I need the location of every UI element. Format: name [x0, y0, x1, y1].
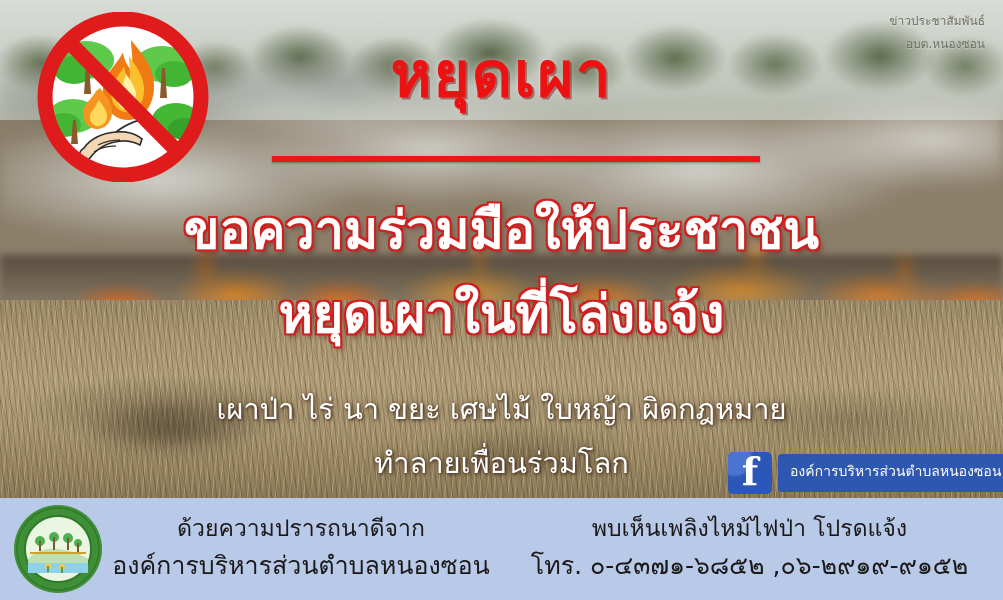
- footer-left-block: ด้วยความปรารถนาดีจาก องค์การบริหารส่วนตำ…: [106, 512, 496, 586]
- facebook-page-name[interactable]: องค์การบริหารส่วนตำบลหนองซอน: [778, 454, 1003, 492]
- public-notice-poster: ข่าวประชาสัมพันธ์ อบต.หนองซอน หยุดเผา ขอ…: [0, 0, 1003, 600]
- red-divider-rule: [272, 156, 760, 162]
- facebook-glyph: f: [728, 452, 772, 494]
- municipal-seal-icon: [10, 503, 106, 595]
- footer-bar: ด้วยความปรารถนาดีจาก องค์การบริหารส่วนตำ…: [0, 498, 1003, 600]
- footer-right-block: พบเห็นเพลิงไหม้ไฟป่า โปรดแจ้ง โทร. ๐-๔๓๗…: [496, 512, 1003, 586]
- footer-left-line-1: ด้วยความปรารถนาดีจาก: [106, 512, 496, 548]
- message-line-2: หยุดเผาในที่โล่งแจ้ง: [0, 272, 1003, 355]
- footer-left-line-2: องค์การบริหารส่วนตำบลหนองซอน: [106, 547, 496, 586]
- footer-right-line-1: พบเห็นเพลิงไหม้ไฟป่า โปรดแจ้ง: [496, 512, 1003, 548]
- facebook-badge[interactable]: f องค์การบริหารส่วนตำบลหนองซอน: [728, 452, 1003, 494]
- subtext-line-1: เผาป่า ไร่ นา ขยะ เศษไม้ ใบหญ้า ผิดกฎหมา…: [0, 386, 1003, 432]
- emergency-phone-numbers: โทร. ๐-๔๓๗๑-๖๘๕๒ ,๐๖-๒๙๑๙-๙๑๕๒: [496, 547, 1003, 586]
- headline: หยุดเผา: [0, 26, 1003, 124]
- message-line-1: ขอความร่วมมือให้ประชาชน: [0, 188, 1003, 271]
- facebook-icon[interactable]: f: [728, 452, 772, 494]
